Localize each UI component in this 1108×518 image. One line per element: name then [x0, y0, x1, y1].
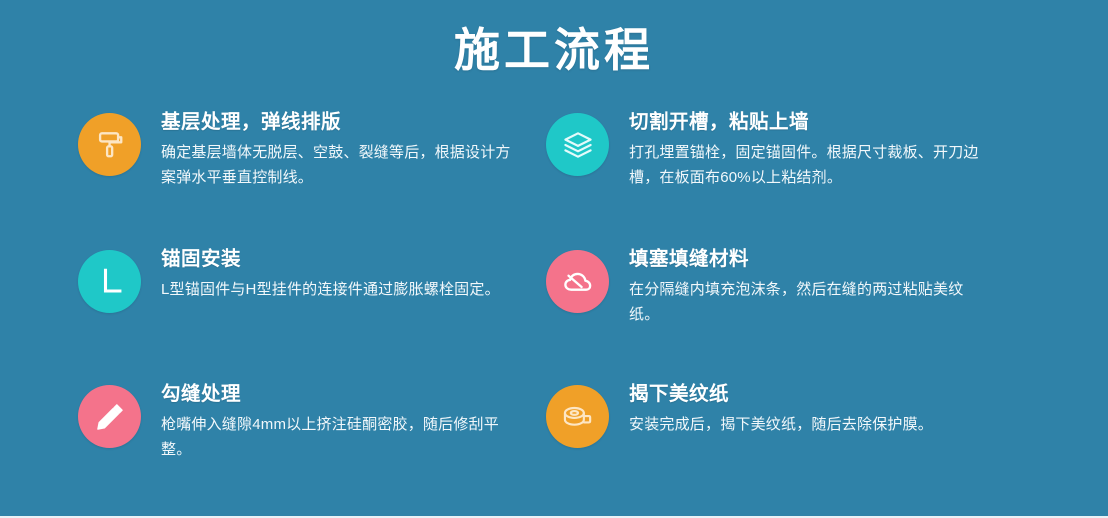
step-item-5: 勾缝处理 枪嘴伸入缝隙4mm以上挤注硅酮密胶，随后修刮平整。: [78, 380, 546, 500]
tape-roll-icon: [560, 399, 596, 435]
step-title-4: 填塞填缝材料: [629, 247, 991, 271]
cloud-slash-icon: [560, 264, 596, 300]
step-item-1: 基层处理，弹线排版 确定基层墙体无脱层、空鼓、裂缝等后，根据设计方案弹水平垂直控…: [78, 108, 546, 245]
layers-icon: [560, 127, 596, 163]
step-desc-4: 在分隔缝内填充泡沫条，然后在缝的两过粘贴美纹纸。: [629, 278, 991, 327]
step-text-4: 填塞填缝材料 在分隔缝内填充泡沫条，然后在缝的两过粘贴美纹纸。: [629, 245, 991, 327]
l-bracket-icon: [92, 264, 128, 300]
step-title-1: 基层处理，弹线排版: [161, 110, 511, 134]
step-title-2: 切割开槽，粘贴上墙: [629, 110, 991, 134]
steps-grid: 基层处理，弹线排版 确定基层墙体无脱层、空鼓、裂缝等后，根据设计方案弹水平垂直控…: [78, 108, 1030, 500]
step-desc-6: 安装完成后，揭下美纹纸，随后去除保护膜。: [629, 413, 933, 437]
step-text-1: 基层处理，弹线排版 确定基层墙体无脱层、空鼓、裂缝等后，根据设计方案弹水平垂直控…: [161, 108, 511, 190]
step-desc-1: 确定基层墙体无脱层、空鼓、裂缝等后，根据设计方案弹水平垂直控制线。: [161, 141, 511, 190]
step-item-4: 填塞填缝材料 在分隔缝内填充泡沫条，然后在缝的两过粘贴美纹纸。: [546, 245, 1030, 380]
step-badge-1: [78, 113, 141, 176]
step-desc-2: 打孔埋置锚栓，固定锚固件。根据尺寸裁板、开刀边槽，在板面布60%以上粘结剂。: [629, 141, 991, 190]
step-badge-4: [546, 250, 609, 313]
step-title-5: 勾缝处理: [161, 382, 511, 406]
step-badge-2: [546, 113, 609, 176]
page-title: 施工流程: [0, 24, 1108, 77]
caulk-gun-icon: [92, 399, 128, 435]
step-text-2: 切割开槽，粘贴上墙 打孔埋置锚栓，固定锚固件。根据尺寸裁板、开刀边槽，在板面布6…: [629, 108, 991, 190]
step-item-6: 揭下美纹纸 安装完成后，揭下美纹纸，随后去除保护膜。: [546, 380, 1030, 500]
step-title-6: 揭下美纹纸: [629, 382, 933, 406]
step-item-3: 锚固安装 L型锚固件与H型挂件的连接件通过膨胀螺栓固定。: [78, 245, 546, 380]
step-text-5: 勾缝处理 枪嘴伸入缝隙4mm以上挤注硅酮密胶，随后修刮平整。: [161, 380, 511, 462]
paint-roller-icon: [92, 127, 128, 163]
step-text-6: 揭下美纹纸 安装完成后，揭下美纹纸，随后去除保护膜。: [629, 380, 933, 438]
step-desc-3: L型锚固件与H型挂件的连接件通过膨胀螺栓固定。: [161, 278, 500, 302]
step-title-3: 锚固安装: [161, 247, 500, 271]
step-badge-3: [78, 250, 141, 313]
step-item-2: 切割开槽，粘贴上墙 打孔埋置锚栓，固定锚固件。根据尺寸裁板、开刀边槽，在板面布6…: [546, 108, 1030, 245]
step-badge-6: [546, 385, 609, 448]
step-text-3: 锚固安装 L型锚固件与H型挂件的连接件通过膨胀螺栓固定。: [161, 245, 500, 303]
infographic-poster: 施工流程 基层处理，弹线排版 确定基层墙体无脱层、空鼓、裂缝等后，根据设计方案弹…: [0, 0, 1108, 518]
step-badge-5: [78, 385, 141, 448]
step-desc-5: 枪嘴伸入缝隙4mm以上挤注硅酮密胶，随后修刮平整。: [161, 413, 511, 462]
